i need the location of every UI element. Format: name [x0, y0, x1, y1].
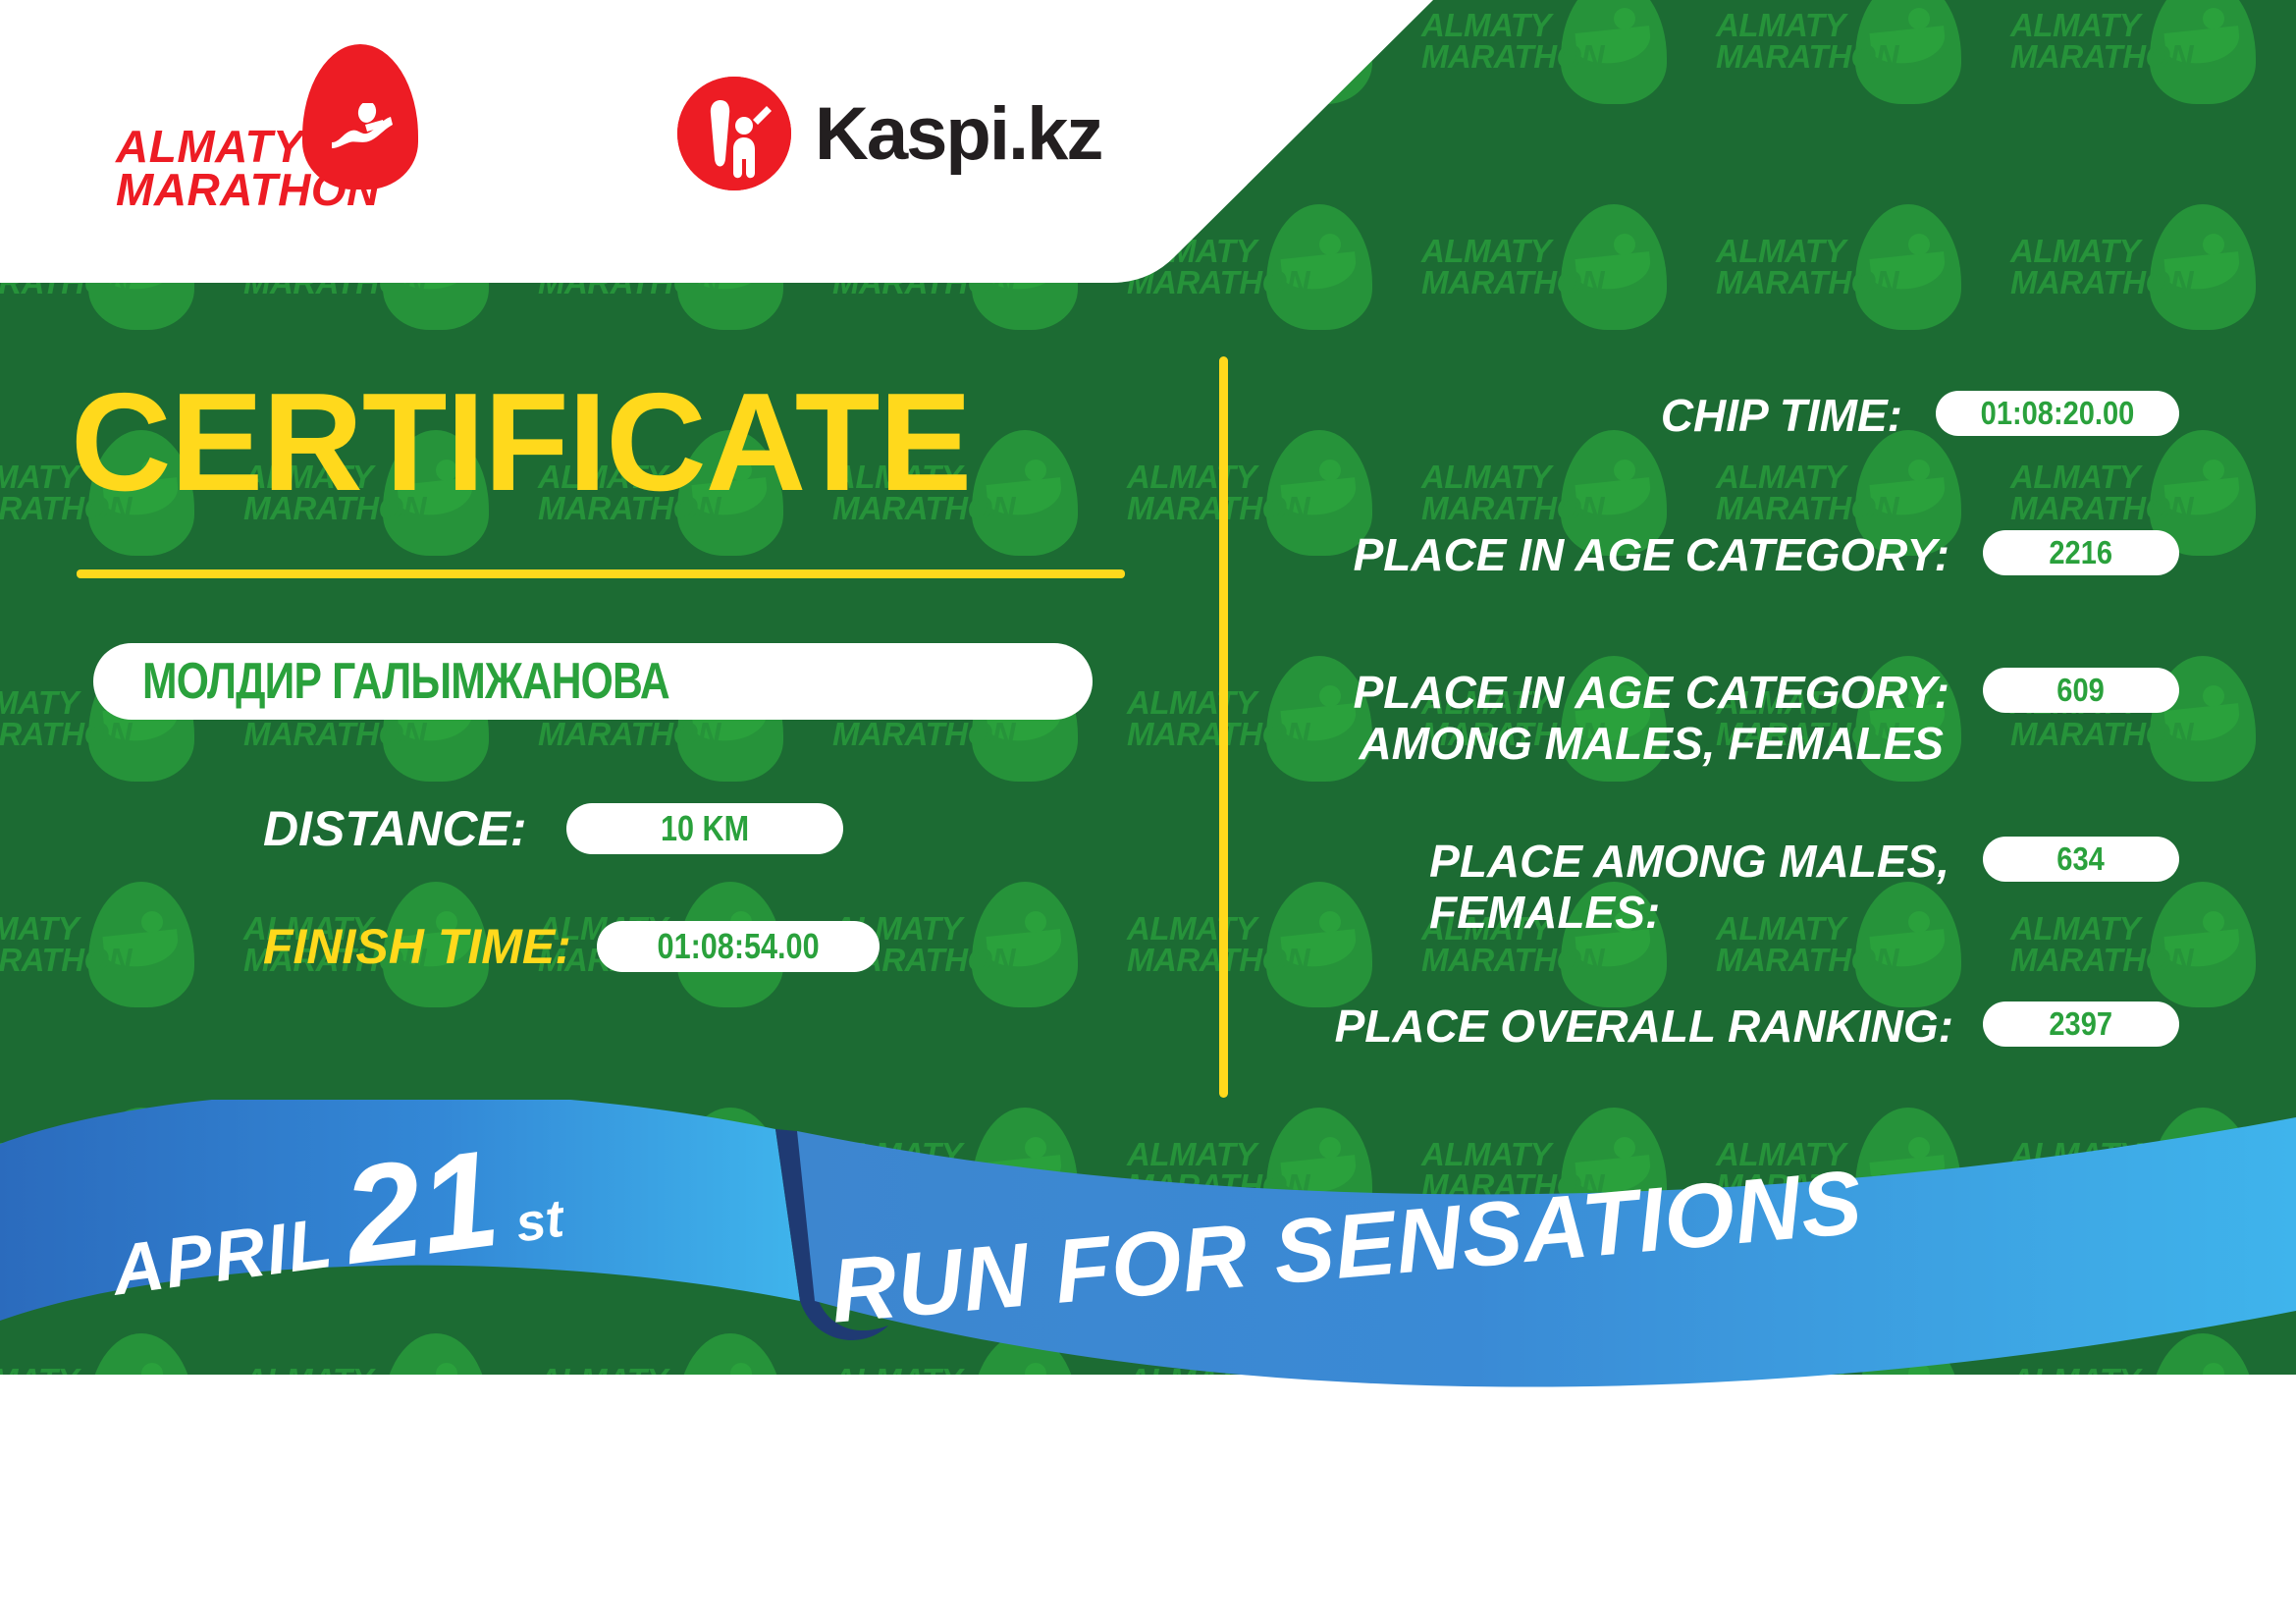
place-overall-label: PLACE OVERALL RANKING: — [1335, 1001, 1953, 1053]
logo-line-2: MARATHON — [116, 168, 380, 211]
stat-row-distance: DISTANCE: 10 KM — [263, 800, 843, 857]
stat-row-place-among-gender: PLACE AMONG MALES, FEMALES: 634 — [1276, 837, 2179, 938]
stat-row-finish-time: FINISH TIME: 01:08:54.00 — [263, 918, 880, 975]
place-among-gender-label: PLACE AMONG MALES, FEMALES: — [1429, 837, 1949, 938]
watermark-tile: ALMATYMARATHON — [530, 864, 825, 1090]
ribbon-day: 21 — [338, 1136, 506, 1278]
stat-row-place-overall: PLACE OVERALL RANKING: 2397 — [1276, 1001, 2179, 1053]
watermark-tile: ALMATYMARATHON — [1708, 412, 2002, 638]
place-among-gender-value-pill: 634 — [1983, 837, 2179, 882]
ribbon-day-suffix: st — [512, 1188, 567, 1255]
participant-name-field: МОЛДИР ГАЛЫМЖАНОВА — [93, 643, 1093, 720]
title-underline — [77, 569, 1125, 578]
kaspi-wordmark: Kaspi.kz — [815, 91, 1101, 177]
page-title: CERTIFICATE — [71, 373, 971, 513]
distance-label: DISTANCE: — [263, 800, 527, 857]
watermark-tile: ALMATYMARATHON — [825, 864, 1119, 1090]
place-age-category-gender-label: PLACE IN AGE CATEGORY: AMONG MALES, FEMA… — [1354, 668, 1949, 769]
kaspi-people-icon — [677, 77, 791, 190]
place-overall-value-pill: 2397 — [1983, 1001, 2179, 1047]
watermark-tile: ALMATYMARATHON — [1414, 412, 1708, 638]
watermark-tile: ALMATYMARATHON — [2002, 412, 2296, 638]
watermark-text: ALMATYMARATHON — [1716, 461, 1893, 525]
watermark-text: ALMATYMARATHON — [1421, 461, 1598, 525]
participant-name: МОЛДИР ГАЛЫМЖАНОВА — [142, 652, 669, 711]
sponsors-bar: Sulpak SANOFI Empowering Life ORIFLAME S… — [0, 1414, 2296, 1624]
finish-time-label: FINISH TIME: — [263, 918, 571, 975]
watermark-text: ALMATYMARATHON — [0, 913, 126, 977]
chip-time-label: CHIP TIME: — [1661, 391, 1902, 442]
place-age-category-label: PLACE IN AGE CATEGORY: — [1354, 530, 1949, 581]
kaspi-logo: Kaspi.kz — [677, 77, 1101, 190]
place-age-category-value-pill: 2216 — [1983, 530, 2179, 575]
distance-value-pill: 10 KM — [566, 803, 843, 854]
place-age-category-gender-value-pill: 609 — [1983, 668, 2179, 713]
chip-time-value: 01:08:20.00 — [1981, 395, 2135, 432]
kaspi-people-glyph-icon — [677, 77, 791, 190]
place-age-category-value: 2216 — [2050, 534, 2113, 571]
place-among-gender-value: 634 — [2057, 840, 2105, 878]
logo-line-1: ALMATY — [116, 125, 380, 168]
distance-value: 10 KM — [660, 808, 748, 849]
watermark-tile: ALMATYMARATHON — [0, 864, 236, 1090]
header-bar: ALMATY MARATHON Kaspi.kz — [0, 0, 1423, 261]
watermark-text: ALMATYMARATHON — [2010, 461, 2187, 525]
chip-time-value-pill: 01:08:20.00 — [1936, 391, 2179, 436]
watermark-text: ALMATYMARATHON — [1127, 461, 1304, 525]
stat-row-place-age-category-gender: PLACE IN AGE CATEGORY: AMONG MALES, FEMA… — [1276, 668, 2179, 769]
stat-row-chip-time: CHIP TIME: 01:08:20.00 — [1315, 391, 2179, 442]
certificate-page: ALMATYMARATHONALMATYMARATHONALMATYMARATH… — [0, 0, 2296, 1624]
watermark-tile: ALMATYMARATHON — [236, 864, 530, 1090]
finish-time-value-pill: 01:08:54.00 — [597, 921, 880, 972]
place-age-category-gender-value: 609 — [2057, 672, 2105, 709]
vertical-divider — [1219, 356, 1228, 1098]
finish-time-value: 01:08:54.00 — [657, 926, 819, 967]
place-overall-value: 2397 — [2050, 1005, 2113, 1043]
almaty-marathon-wordmark: ALMATY MARATHON — [116, 125, 380, 211]
almaty-marathon-logo: ALMATY MARATHON — [116, 44, 440, 221]
stat-row-place-age-category: PLACE IN AGE CATEGORY: 2216 — [1315, 530, 2179, 581]
watermark-tile: ALMATYMARATHON — [1119, 412, 1414, 638]
